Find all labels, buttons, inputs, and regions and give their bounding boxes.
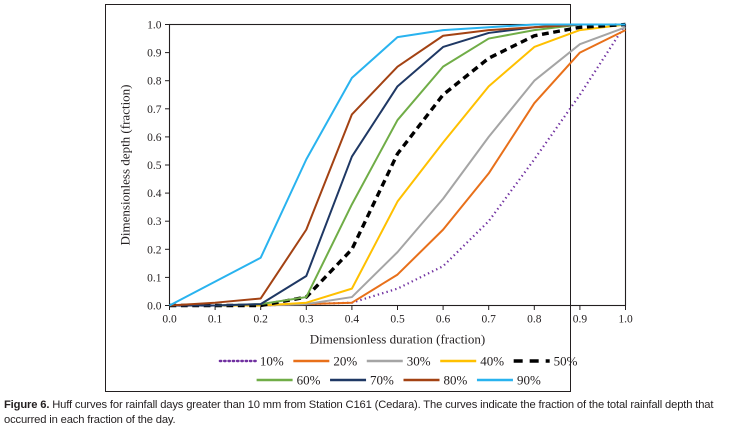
- legend-label-40pct: 40%: [480, 354, 504, 369]
- y-axis-title: Dimensionless depth (fraction): [118, 84, 133, 245]
- x-tick-label: 0.0: [162, 314, 177, 326]
- legend-label-10pct: 10%: [260, 354, 284, 369]
- x-tick-label: 0.9: [573, 314, 588, 326]
- series-layer: [170, 25, 626, 306]
- y-tick-label: 1.0: [147, 20, 162, 32]
- legend-label-60pct: 60%: [297, 373, 321, 388]
- x-tick-label: 0.3: [299, 314, 314, 326]
- legend-label-20pct: 20%: [333, 354, 357, 369]
- y-tick-label: 0.8: [147, 76, 162, 88]
- legend-label-80pct: 80%: [444, 373, 468, 388]
- legend-label-90pct: 90%: [517, 373, 541, 388]
- caption-text: Huff curves for rainfall days greater th…: [4, 399, 713, 426]
- series-line-80pct: [170, 25, 626, 306]
- x-tick-label: 0.8: [527, 314, 542, 326]
- legend-label-30pct: 30%: [407, 354, 431, 369]
- caption-label: Figure 6.: [4, 399, 49, 411]
- y-tick-label: 0.7: [147, 104, 162, 116]
- x-axis-title: Dimensionless duration (fraction): [310, 332, 485, 347]
- x-tick-label: 0.4: [345, 314, 360, 326]
- x-tick-label: 0.1: [208, 314, 223, 326]
- y-tick-label: 0.6: [147, 132, 162, 144]
- y-tick-label: 0.1: [147, 272, 162, 284]
- x-tick-label: 0.2: [254, 314, 269, 326]
- y-tick-label: 0.4: [147, 188, 162, 200]
- x-tick-label: 1.0: [618, 314, 633, 326]
- figure-container: 0.00.10.20.30.40.50.60.70.80.91.00.00.10…: [0, 0, 751, 435]
- x-tick-label: 0.5: [390, 314, 405, 326]
- y-tick-label: 0.9: [147, 48, 162, 60]
- legend-label-70pct: 70%: [370, 373, 394, 388]
- series-line-20pct: [170, 30, 626, 305]
- figure-caption: Figure 6. Huff curves for rainfall days …: [4, 398, 747, 428]
- chart-legend: 10%20%30%40%50%60%70%80%90%: [220, 354, 578, 388]
- series-line-30pct: [170, 27, 626, 305]
- y-tick-label: 0.2: [147, 244, 162, 256]
- y-tick-label: 0.3: [147, 216, 162, 228]
- x-tick-label: 0.6: [436, 314, 451, 326]
- x-tick-label: 0.7: [482, 314, 497, 326]
- y-tick-label: 0.0: [147, 301, 162, 313]
- axes-layer: [165, 25, 626, 311]
- legend-label-50pct: 50%: [554, 354, 578, 369]
- huff-curves-chart: 0.00.10.20.30.40.50.60.70.80.91.00.00.10…: [0, 0, 751, 435]
- y-tick-label: 0.5: [147, 160, 162, 172]
